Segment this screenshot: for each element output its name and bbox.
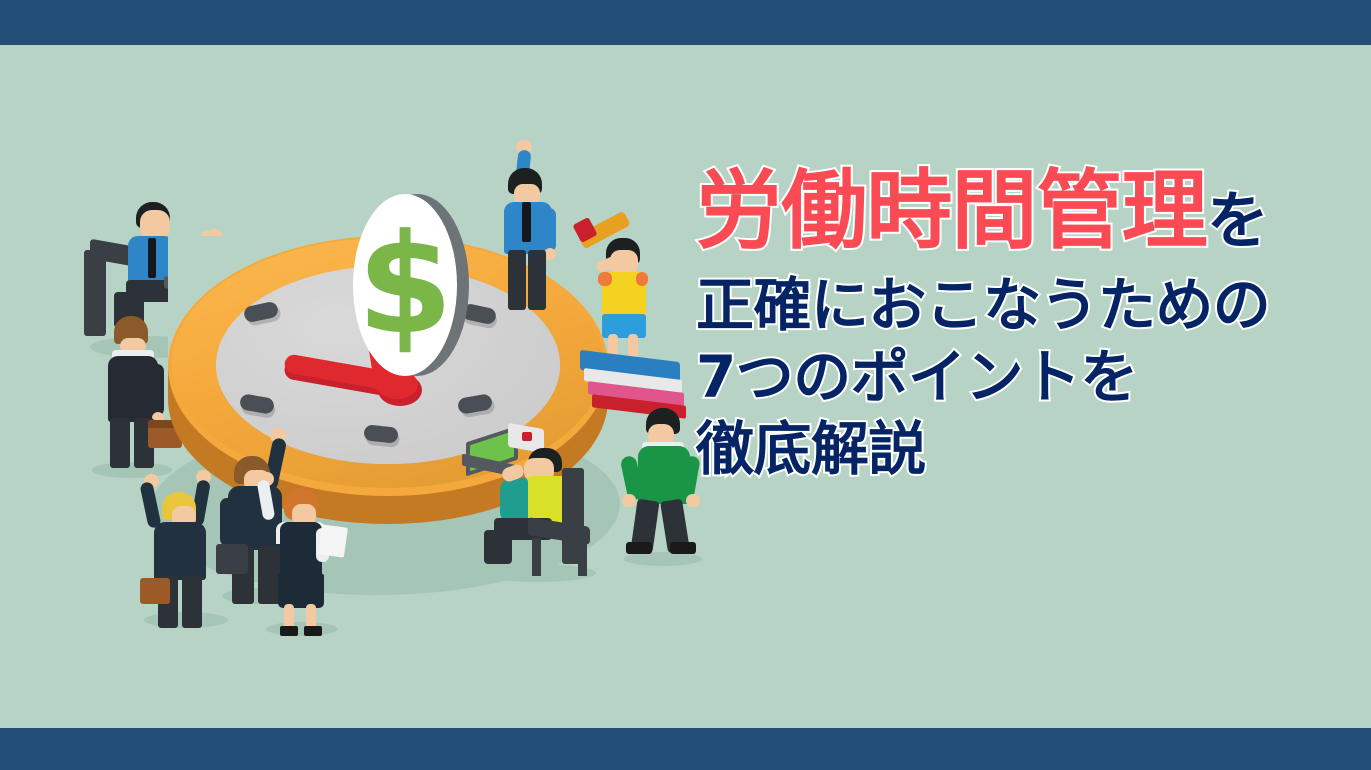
figure-child-with-telescope	[570, 214, 680, 374]
headline-accent-text: 労働時間管理	[696, 161, 1207, 261]
dollar-coin: $	[353, 194, 463, 376]
headline-particle-wo: を	[1207, 184, 1268, 257]
figure-woman-with-documents	[258, 470, 350, 640]
briefcase-icon	[140, 578, 170, 604]
figure-standing-man-with-briefcase	[92, 316, 176, 476]
briefcase-icon	[216, 544, 248, 574]
figure-walking-man-green-sweater	[620, 408, 704, 568]
headline-line-2: 正確におこなうための	[696, 276, 1371, 348]
headline-line-3: 7つのポイントを	[696, 348, 1371, 420]
top-color-band	[0, 0, 1371, 45]
headline-line-4: 徹底解説	[696, 420, 1371, 492]
headline-line-1: 労働時間管理を	[696, 168, 1371, 272]
bottom-color-band	[0, 728, 1371, 770]
figure-seated-person-with-laptop	[466, 422, 606, 582]
thumbnail-canvas: $	[0, 0, 1371, 770]
documents-icon	[318, 524, 348, 557]
headline-block: 労働時間管理を 正確におこなうための 7つのポイントを 徹底解説	[696, 168, 1371, 492]
figure-man-raising-fist	[484, 140, 564, 280]
dollar-sign-icon: $	[353, 194, 457, 376]
